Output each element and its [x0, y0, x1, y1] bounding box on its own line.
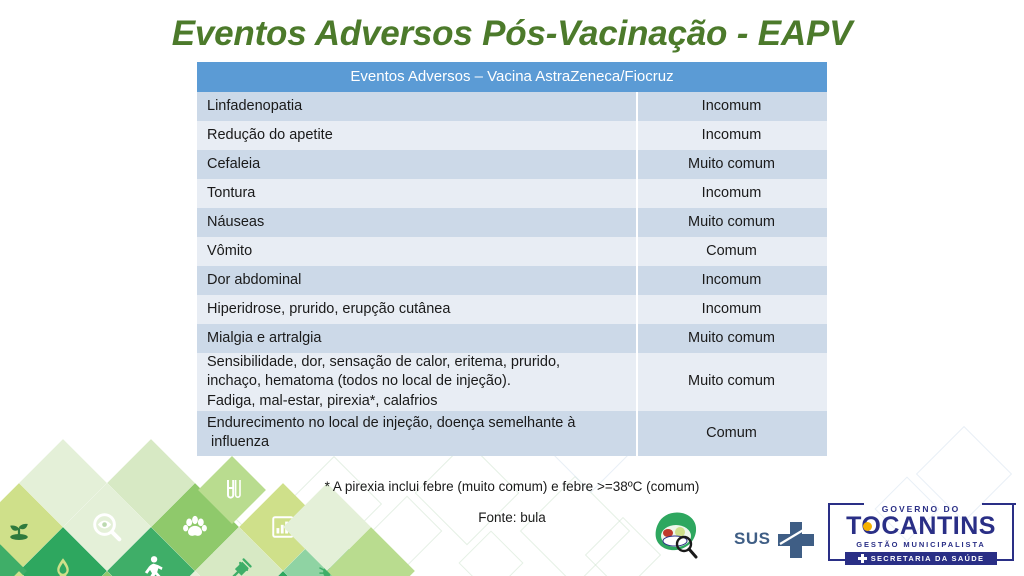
mosaic-tile: [239, 483, 327, 571]
frequency-cell: Incomum: [636, 92, 827, 121]
syringe-icon: [224, 556, 254, 576]
adverse-events-table: Eventos Adversos – Vacina AstraZeneca/Fi…: [197, 62, 827, 456]
mosaic-tile: [151, 571, 239, 576]
page-title: Eventos Adversos Pós-Vacinação - EAPV: [0, 14, 1024, 54]
frequency-cell: Muito comum: [636, 324, 827, 353]
table-row: Redução do apetite Incomum: [197, 121, 827, 150]
event-cell: Endurecimento no local de injeção, doenç…: [197, 411, 636, 456]
table-body: Linfadenopatia Incomum Redução do apetit…: [197, 92, 827, 456]
event-cell: Sensibilidade, dor, sensação de calor, e…: [197, 353, 636, 411]
event-cell: Linfadenopatia: [197, 92, 636, 121]
event-line: influenza: [207, 433, 636, 452]
asterisk-footnote: * A pirexia inclui febre (muito comum) e…: [0, 479, 1024, 494]
mosaic-tile: [0, 527, 27, 576]
table-row: Linfadenopatia Incomum: [197, 92, 827, 121]
table-header-title: Eventos Adversos – Vacina AstraZeneca/Fi…: [197, 62, 827, 92]
table-row: Hiperidrose, prurido, erupção cutânea In…: [197, 295, 827, 324]
scorpion-icon: [314, 558, 340, 576]
tocantins-sun-icon: [863, 522, 872, 531]
event-cell: Vômito: [197, 237, 636, 266]
sus-cross-icon: [776, 520, 816, 558]
event-cell: Dor abdominal: [197, 266, 636, 295]
frequency-cell: Incomum: [636, 266, 827, 295]
mosaic-tile: [19, 527, 107, 576]
event-cell: Hiperidrose, prurido, erupção cutânea: [197, 295, 636, 324]
tocantins-wordmark: TOCANTINS: [830, 514, 1012, 538]
event-cell: Cefaleia: [197, 150, 636, 179]
mosaic-tile: [195, 527, 283, 576]
frequency-cell: Incomum: [636, 295, 827, 324]
event-line: Sensibilidade, dor, sensação de calor, e…: [207, 353, 636, 372]
mosaic-tile: [283, 527, 371, 576]
mosaic-tile: [63, 483, 151, 571]
mosaic-tile: [0, 571, 63, 576]
table-row: Mialgia e artralgia Muito comum: [197, 324, 827, 353]
table-row: Tontura Incomum: [197, 179, 827, 208]
table-row: Vômito Comum: [197, 237, 827, 266]
tocantins-secretaria-label: SECRETARIA DA SAÚDE: [871, 554, 985, 563]
tocantins-gestao-label: GESTÃO MUNICIPALISTA: [830, 539, 1012, 550]
mosaic-tile: [151, 483, 239, 571]
event-line: inchaço, hematoma (todos no local de inj…: [207, 372, 636, 391]
tocantins-logo: GOVERNO DO TOCANTINS GESTÃO MUNICIPALIST…: [828, 508, 1014, 561]
table-header-row: Eventos Adversos – Vacina AstraZeneca/Fi…: [197, 62, 827, 92]
mosaic-tile: [63, 571, 151, 576]
frequency-cell: Comum: [636, 411, 827, 456]
mosaic-tile: [327, 527, 415, 576]
frequency-cell: Muito comum: [636, 208, 827, 237]
event-cell: Náuseas: [197, 208, 636, 237]
frequency-cell: Incomum: [636, 179, 827, 208]
vigilancia-emblem-logo: [648, 508, 706, 569]
table-row: Sensibilidade, dor, sensação de calor, e…: [197, 353, 827, 411]
logo-row: SUS GOVERNO DO TOCANTINS GESTÃO MUNICIPA…: [648, 506, 1024, 574]
sus-label: SUS: [734, 529, 770, 549]
ribbon-icon: [49, 556, 77, 576]
runner-icon: [138, 555, 164, 576]
mosaic-tile: [0, 483, 63, 571]
event-line: Endurecimento no local de injeção, doenç…: [207, 414, 636, 433]
mosaic-tile: [283, 483, 371, 571]
table-row: Cefaleia Muito comum: [197, 150, 827, 179]
vigilancia-emblem-icon: [648, 508, 706, 564]
adverse-events-table-wrapper: Eventos Adversos – Vacina AstraZeneca/Fi…: [197, 62, 827, 456]
table-row: Náuseas Muito comum: [197, 208, 827, 237]
slide-canvas: Eventos Adversos Pós-Vacinação - EAPV Ev…: [0, 0, 1024, 576]
event-cell: Redução do apetite: [197, 121, 636, 150]
frequency-cell: Muito comum: [636, 353, 827, 411]
frequency-cell: Incomum: [636, 121, 827, 150]
mosaic-tile: [107, 527, 195, 576]
event-line: Fadiga, mal-estar, pirexia*, calafrios: [207, 392, 636, 411]
tocantins-frame: GOVERNO DO TOCANTINS GESTÃO MUNICIPALIST…: [828, 503, 1014, 561]
tocantins-frame-top: [830, 503, 1016, 505]
frequency-cell: Comum: [636, 237, 827, 266]
sus-logo: SUS: [734, 520, 816, 558]
tocantins-secretaria-band: SECRETARIA DA SAÚDE: [845, 552, 997, 565]
event-cell: Tontura: [197, 179, 636, 208]
table-row: Dor abdominal Incomum: [197, 266, 827, 295]
frequency-cell: Muito comum: [636, 150, 827, 179]
health-cross-icon: [858, 554, 867, 563]
table-row: Endurecimento no local de injeção, doenç…: [197, 411, 827, 456]
mosaic-tile: [239, 571, 327, 576]
event-cell: Mialgia e artralgia: [197, 324, 636, 353]
